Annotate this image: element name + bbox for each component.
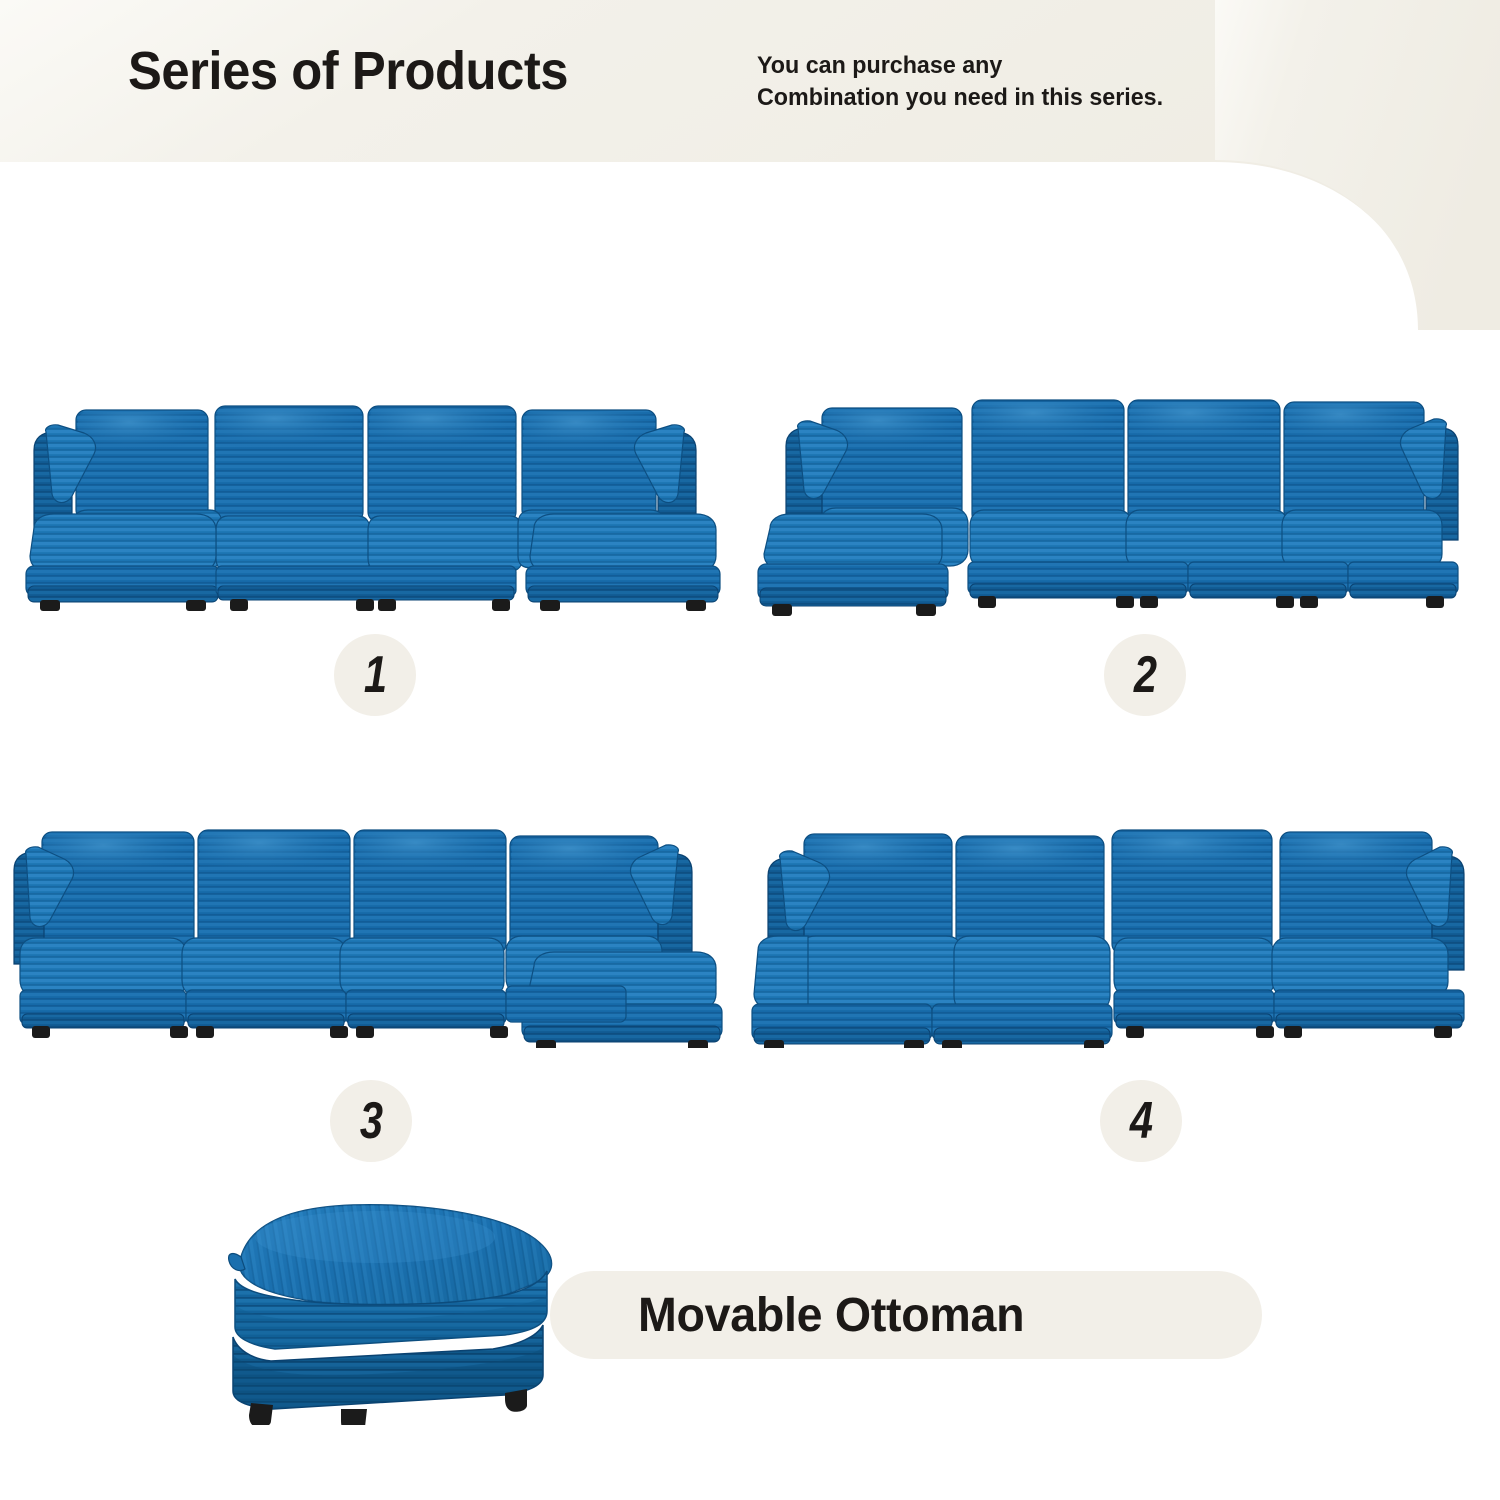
movable-ottoman-banner: Movable Ottoman [550, 1271, 1262, 1359]
configuration-4-badge-label: 4 [1129, 1095, 1152, 1147]
configuration-1[interactable] [10, 388, 740, 618]
movable-ottoman-svg [205, 1195, 605, 1425]
configuration-2-badge-label: 2 [1133, 649, 1156, 701]
page-title: Series of Products [128, 40, 568, 102]
subtitle-line-2: Combination you need in this series. [757, 82, 1163, 114]
configuration-3-illustration [10, 818, 740, 1048]
configuration-3-badge: 3 [330, 1080, 412, 1162]
configuration-1-illustration [10, 388, 740, 618]
configuration-2[interactable] [740, 388, 1470, 618]
subtitle-line-1: You can purchase any [757, 50, 1163, 82]
configuration-1-badge-label: 1 [363, 649, 386, 701]
header-subtitle: You can purchase any Combination you nee… [757, 50, 1163, 114]
configuration-4[interactable] [740, 818, 1470, 1048]
configuration-3[interactable] [10, 818, 740, 1048]
configuration-4-badge: 4 [1100, 1080, 1182, 1162]
configuration-4-illustration [740, 818, 1470, 1048]
configuration-1-badge: 1 [334, 634, 416, 716]
movable-ottoman-illustration[interactable] [205, 1195, 605, 1430]
movable-ottoman-label: Movable Ottoman [638, 1288, 1024, 1343]
configuration-2-badge: 2 [1104, 634, 1186, 716]
configuration-2-illustration [740, 388, 1470, 618]
configuration-3-badge-label: 3 [359, 1095, 382, 1147]
